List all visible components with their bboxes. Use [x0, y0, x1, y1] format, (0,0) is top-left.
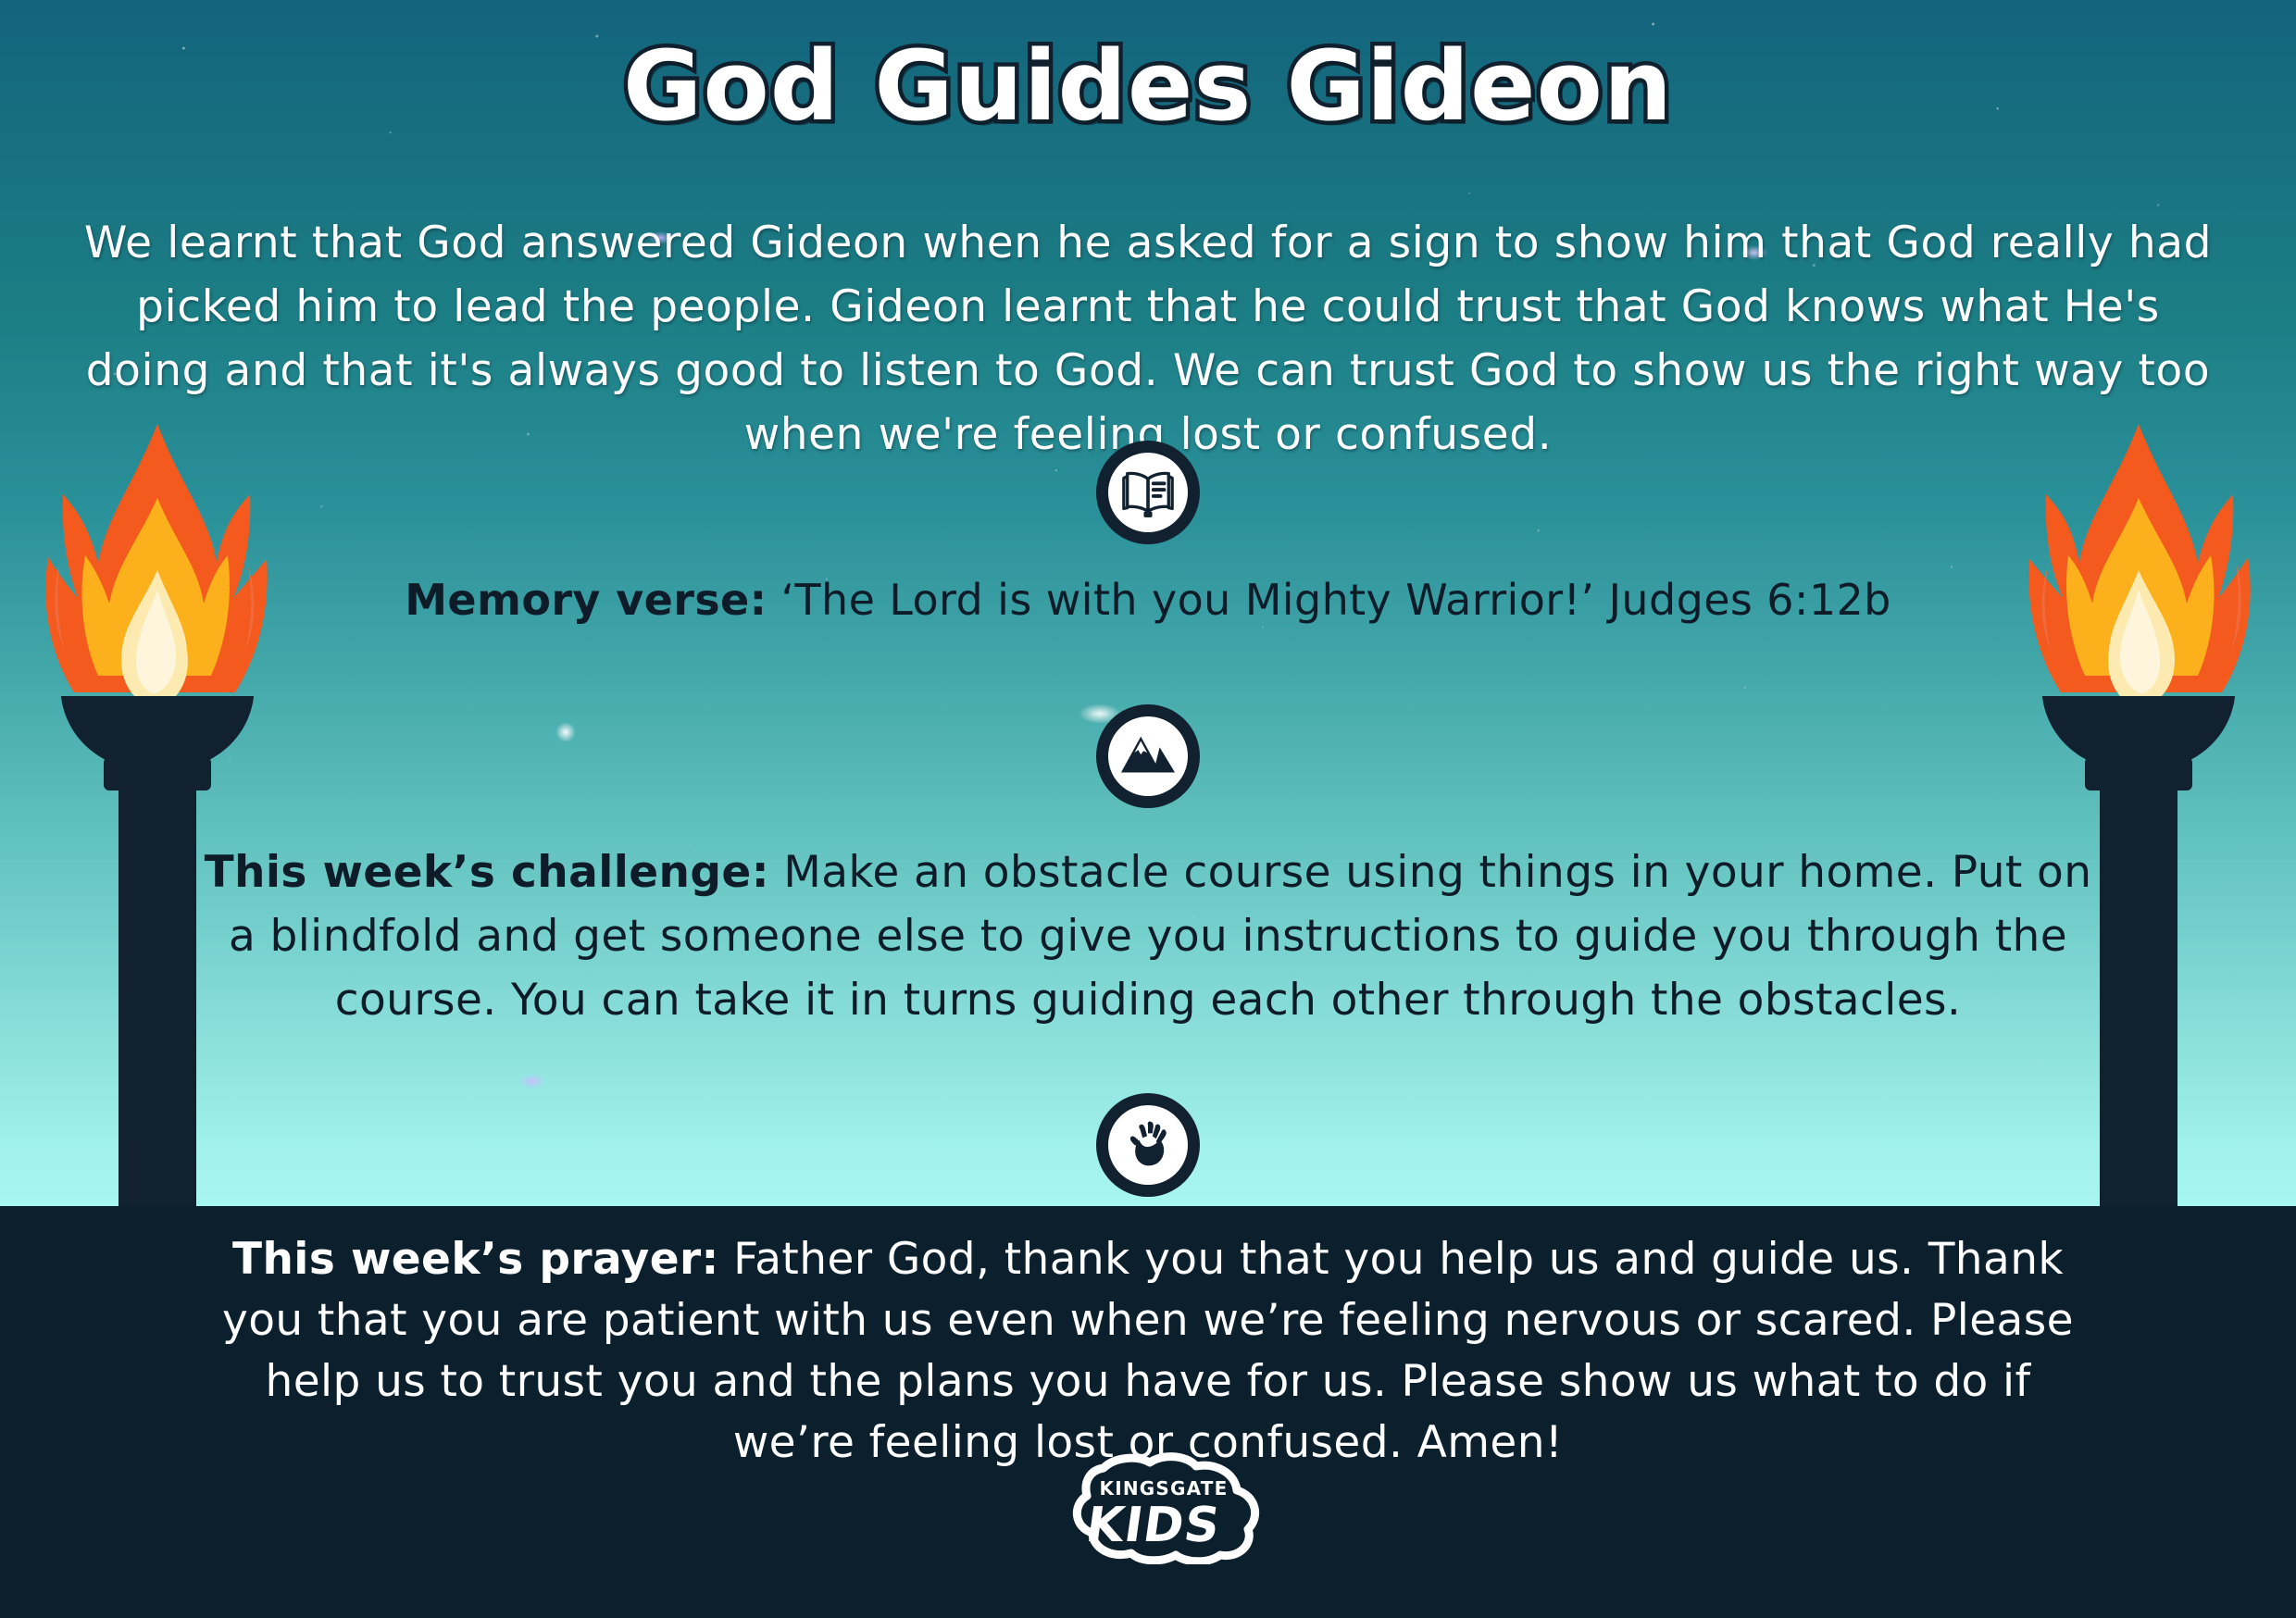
memory-verse-label: Memory verse: — [405, 575, 767, 625]
prayer-label: This week’s prayer: — [232, 1234, 719, 1285]
poster-content: God Guides Gideon We learnt that God ans… — [0, 0, 2296, 1618]
page-title: God Guides Gideon — [0, 35, 2296, 137]
prayer-badge — [1096, 1093, 1200, 1197]
challenge-text: This week’s challenge: Make an obstacle … — [199, 840, 2097, 1032]
logo-bottom-word: KIDS — [1082, 1498, 1224, 1553]
intro-paragraph: We learnt that God answered Gideon when … — [79, 211, 2217, 467]
poster-root: God Guides Gideon We learnt that God ans… — [0, 0, 2296, 1618]
challenge-label: This week’s challenge: — [205, 847, 769, 898]
memory-verse-body: ‘The Lord is with you Mighty Warrior!’ J… — [767, 575, 1890, 625]
prayer-text: This week’s prayer: Father God, thank yo… — [199, 1229, 2097, 1474]
challenge-badge — [1096, 704, 1200, 808]
memory-verse-badge — [1096, 441, 1200, 544]
memory-verse-text: Memory verse: ‘The Lord is with you Migh… — [222, 572, 2074, 628]
praying-hands-icon — [1119, 1116, 1177, 1174]
logo-top-word: KINGSGATE — [1100, 1477, 1229, 1500]
kingsgate-kids-logo: KINGSGATE KIDS — [1048, 1451, 1279, 1564]
open-book-icon — [1119, 464, 1177, 521]
mountain-icon — [1119, 728, 1177, 785]
